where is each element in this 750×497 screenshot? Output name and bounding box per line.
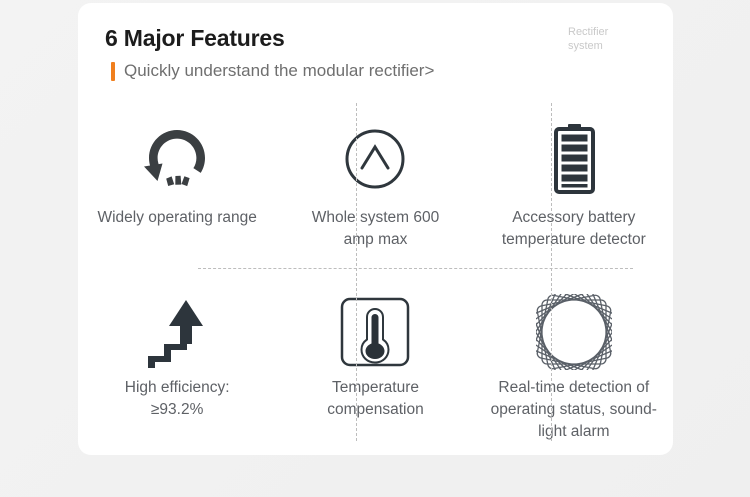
- accent-bar: [111, 62, 115, 81]
- page-subtitle: Quickly understand the modular rectifier…: [124, 61, 434, 81]
- page-root: 6 Major Features Quickly understand the …: [0, 0, 750, 497]
- horizontal-divider: [198, 268, 633, 269]
- feature-cell-3: Accessory battery temperature detector: [475, 95, 673, 275]
- feature-cell-2: Whole system 600 amp max: [276, 95, 474, 275]
- feature-cell-1: Widely operating range: [78, 95, 276, 275]
- rotation-arrow-icon: [141, 113, 213, 205]
- stairs-up-arrow-icon: [146, 289, 208, 375]
- battery-full-icon: [549, 113, 599, 205]
- corner-tag: Rectifier system: [568, 25, 628, 53]
- circle-chevron-icon: [342, 113, 408, 205]
- feature-label: Temperature compensation: [327, 377, 424, 421]
- feature-label: High efficiency: ≥93.2%: [125, 377, 230, 421]
- features-grid: Widely operating range Whole system 600 …: [78, 95, 673, 455]
- vertical-divider-1: [356, 103, 357, 441]
- rotating-squares-icon: [536, 289, 612, 375]
- feature-cell-4: High efficiency: ≥93.2%: [78, 275, 276, 455]
- feature-label: Real-time detection of operating status,…: [491, 377, 657, 443]
- features-card: 6 Major Features Quickly understand the …: [78, 3, 673, 455]
- thermometer-icon: [338, 289, 412, 375]
- card-header: 6 Major Features Quickly understand the …: [78, 3, 673, 95]
- vertical-divider-2: [551, 103, 552, 441]
- subtitle-row: Quickly understand the modular rectifier…: [111, 61, 434, 81]
- feature-label: Accessory battery temperature detector: [502, 207, 646, 251]
- feature-label: Widely operating range: [97, 207, 256, 229]
- feature-cell-5: Temperature compensation: [276, 275, 474, 455]
- feature-label: Whole system 600 amp max: [312, 207, 440, 251]
- page-title: 6 Major Features: [105, 25, 285, 52]
- feature-cell-6: Real-time detection of operating status,…: [475, 275, 673, 455]
